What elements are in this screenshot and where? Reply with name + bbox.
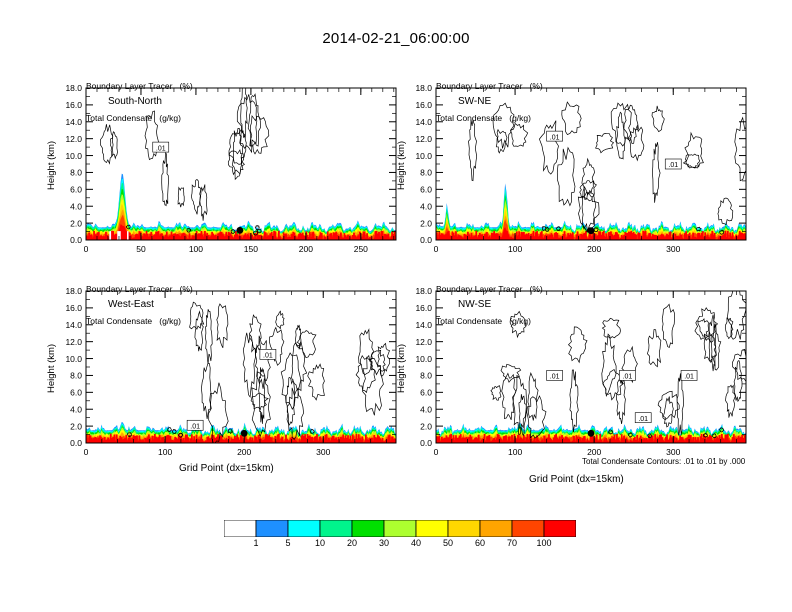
svg-text:50: 50 <box>136 244 146 254</box>
panel-label-sw-ne: SW-NE <box>458 96 491 107</box>
y-axis-label-0: Height (km) <box>46 141 57 190</box>
colorbar <box>224 520 576 537</box>
colorbar-tick-label: 5 <box>274 538 302 548</box>
x-axis-label-left: Grid Point (dx=15km) <box>179 463 274 474</box>
colorbar-tick-label: 10 <box>306 538 334 548</box>
svg-text:18.0: 18.0 <box>415 286 432 296</box>
colorbar-labels: 1510203040506070100 <box>224 538 576 554</box>
svg-text:10.0: 10.0 <box>415 151 432 161</box>
svg-text:200: 200 <box>299 244 313 254</box>
svg-text:10.0: 10.0 <box>415 354 432 364</box>
svg-text:300: 300 <box>316 447 330 457</box>
svg-text:0: 0 <box>434 447 439 457</box>
svg-text:0: 0 <box>84 447 89 457</box>
svg-text:4.0: 4.0 <box>420 404 432 414</box>
colorbar-tick-label: 60 <box>466 538 494 548</box>
colorbar-tick-label: 70 <box>498 538 526 548</box>
svg-text:8.0: 8.0 <box>70 168 82 178</box>
svg-text:200: 200 <box>237 447 251 457</box>
svg-text:0.0: 0.0 <box>70 235 82 245</box>
y-axis-label-1: Height (km) <box>396 141 407 190</box>
svg-text:4.0: 4.0 <box>420 201 432 211</box>
colorbar-segment <box>256 520 288 537</box>
svg-text:16.0: 16.0 <box>65 100 82 110</box>
svg-text:6.0: 6.0 <box>420 185 432 195</box>
svg-text:10.0: 10.0 <box>65 354 82 364</box>
svg-text:.01: .01 <box>550 134 560 141</box>
svg-text:200: 200 <box>587 447 601 457</box>
svg-text:.01: .01 <box>623 374 633 381</box>
svg-text:12.0: 12.0 <box>415 337 432 347</box>
svg-text:6.0: 6.0 <box>420 388 432 398</box>
svg-text:8.0: 8.0 <box>70 371 82 381</box>
svg-text:.01: .01 <box>638 416 648 423</box>
svg-text:12.0: 12.0 <box>415 134 432 144</box>
svg-text:200: 200 <box>587 244 601 254</box>
svg-text:2.0: 2.0 <box>70 421 82 431</box>
figure-canvas: 2014-02-21_06:00:00 Boundary Layer Trace… <box>0 0 792 612</box>
colorbar-tick-label: 20 <box>338 538 366 548</box>
colorbar-segment <box>384 520 416 537</box>
colorbar-segment <box>352 520 384 537</box>
colorbar-tick-label: 100 <box>530 538 558 548</box>
svg-text:18.0: 18.0 <box>415 83 432 93</box>
svg-text:14.0: 14.0 <box>415 320 432 330</box>
svg-text:.01: .01 <box>684 374 694 381</box>
svg-text:2.0: 2.0 <box>420 421 432 431</box>
svg-text:8.0: 8.0 <box>420 371 432 381</box>
svg-text:0: 0 <box>434 244 439 254</box>
svg-text:100: 100 <box>508 447 522 457</box>
svg-text:.01: .01 <box>190 423 200 430</box>
svg-text:100: 100 <box>158 447 172 457</box>
svg-text:12.0: 12.0 <box>65 337 82 347</box>
panel-label-west-east: West-East <box>108 299 154 310</box>
svg-text:6.0: 6.0 <box>70 185 82 195</box>
svg-text:300: 300 <box>666 447 680 457</box>
svg-text:4.0: 4.0 <box>70 201 82 211</box>
colorbar-segment <box>512 520 544 537</box>
svg-text:.01: .01 <box>263 353 273 360</box>
svg-text:.01: .01 <box>156 145 166 152</box>
colorbar-segment <box>320 520 352 537</box>
panel-label-south-north: South-North <box>108 96 162 107</box>
svg-text:18.0: 18.0 <box>65 286 82 296</box>
svg-text:.01: .01 <box>668 162 678 169</box>
svg-text:100: 100 <box>189 244 203 254</box>
svg-text:16.0: 16.0 <box>415 100 432 110</box>
colorbar-tick-label: 1 <box>242 538 270 548</box>
svg-text:18.0: 18.0 <box>65 83 82 93</box>
colorbar-segment <box>480 520 512 537</box>
svg-text:.01: .01 <box>550 374 560 381</box>
svg-text:150: 150 <box>244 244 258 254</box>
svg-text:4.0: 4.0 <box>70 404 82 414</box>
svg-text:250: 250 <box>354 244 368 254</box>
svg-text:14.0: 14.0 <box>65 320 82 330</box>
svg-text:6.0: 6.0 <box>70 388 82 398</box>
svg-text:8.0: 8.0 <box>420 168 432 178</box>
colorbar-segment <box>544 520 576 537</box>
colorbar-tick-label: 50 <box>434 538 462 548</box>
svg-text:0: 0 <box>84 244 89 254</box>
svg-text:0.0: 0.0 <box>420 235 432 245</box>
x-axis-label-right: Grid Point (dx=15km) <box>529 474 624 485</box>
svg-text:10.0: 10.0 <box>65 151 82 161</box>
svg-text:0.0: 0.0 <box>70 438 82 448</box>
colorbar-tick-label: 30 <box>370 538 398 548</box>
svg-text:300: 300 <box>666 244 680 254</box>
colorbar-segment <box>448 520 480 537</box>
y-axis-label-3: Height (km) <box>396 344 407 393</box>
svg-text:2.0: 2.0 <box>70 218 82 228</box>
svg-text:0.0: 0.0 <box>420 438 432 448</box>
colorbar-segment <box>224 520 256 537</box>
svg-text:2.0: 2.0 <box>420 218 432 228</box>
svg-text:16.0: 16.0 <box>415 303 432 313</box>
y-axis-label-2: Height (km) <box>46 344 57 393</box>
svg-text:100: 100 <box>508 244 522 254</box>
colorbar-segment <box>416 520 448 537</box>
panel-label-nw-se: NW-SE <box>458 299 491 310</box>
colorbar-tick-label: 40 <box>402 538 430 548</box>
svg-text:16.0: 16.0 <box>65 303 82 313</box>
contour-note: Total Condensate Contours: .01 to .01 by… <box>582 457 745 466</box>
svg-text:12.0: 12.0 <box>65 134 82 144</box>
svg-text:14.0: 14.0 <box>65 117 82 127</box>
svg-text:14.0: 14.0 <box>415 117 432 127</box>
colorbar-segment <box>288 520 320 537</box>
